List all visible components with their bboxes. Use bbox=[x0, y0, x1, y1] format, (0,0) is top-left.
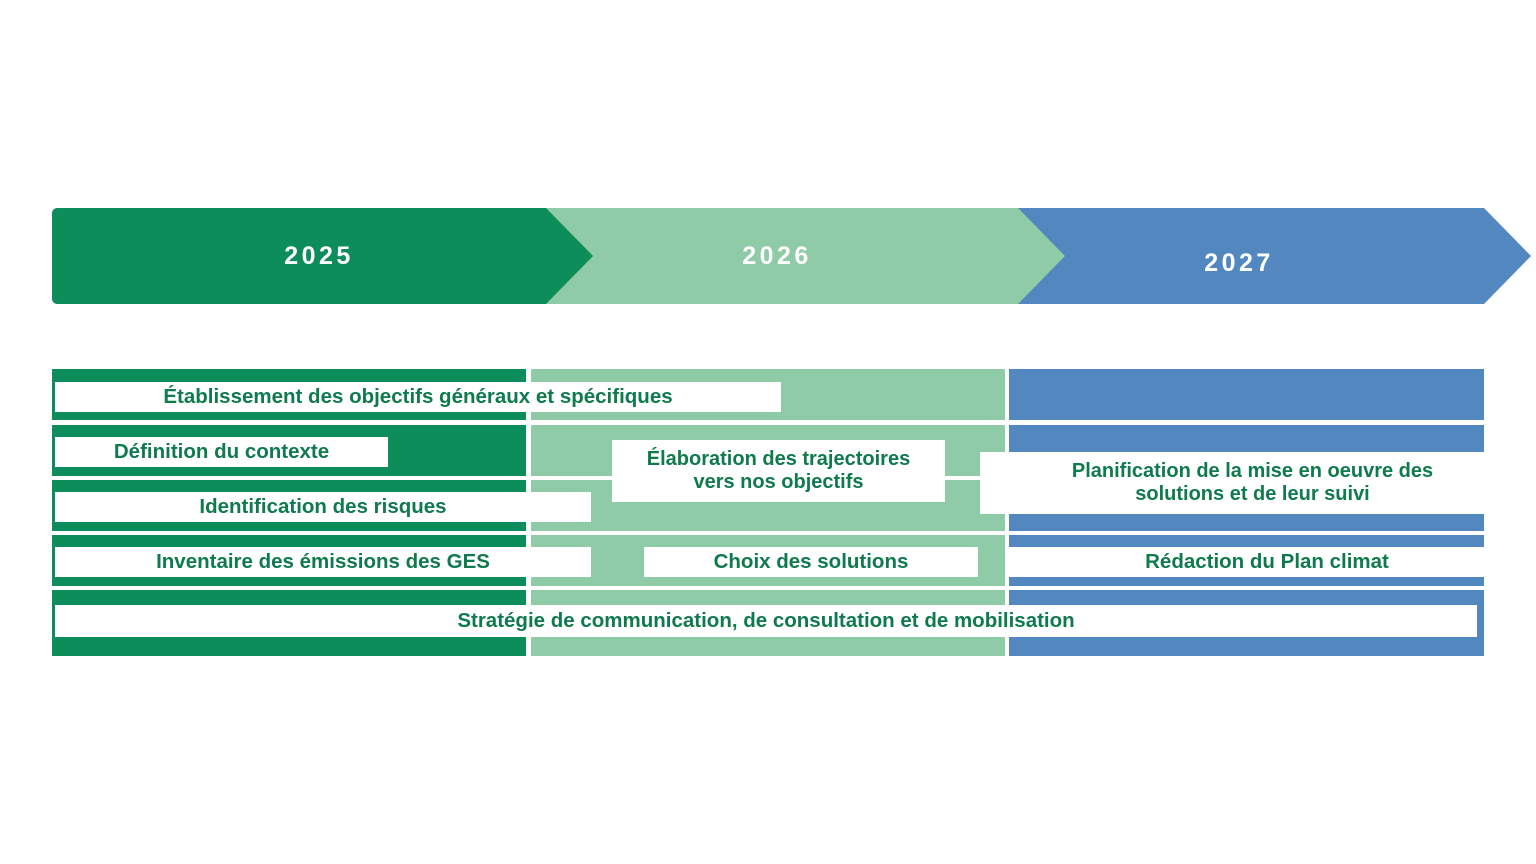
task-label-trajectoires-line2: vers nos objectifs bbox=[647, 471, 910, 494]
arrow-tip-icon bbox=[546, 208, 593, 304]
task-label-contexte[interactable]: Définition du contexte bbox=[55, 437, 388, 467]
task-label-contexte-text: Définition du contexte bbox=[114, 440, 329, 464]
task-label-redaction-text: Rédaction du Plan climat bbox=[1145, 550, 1389, 574]
task-label-choix[interactable]: Choix des solutions bbox=[644, 547, 978, 577]
task-label-inventaire-text: Inventaire des émissions des GES bbox=[156, 550, 490, 574]
task-label-objectifs-text: Établissement des objectifs généraux et … bbox=[163, 385, 672, 409]
bar-segment-2027-row1 bbox=[1009, 369, 1484, 420]
task-label-redaction[interactable]: Rédaction du Plan climat bbox=[1009, 547, 1525, 577]
year-label-2027: 2027 bbox=[1204, 249, 1274, 278]
arrow-tip-icon bbox=[1484, 208, 1531, 304]
year-label-2025: 2025 bbox=[284, 242, 354, 271]
year-arrow-2025[interactable]: 2025 bbox=[52, 208, 546, 304]
task-label-strategie-text: Stratégie de communication, de consultat… bbox=[457, 609, 1074, 633]
gantt-grid: Établissement des objectifs généraux et … bbox=[52, 369, 1484, 659]
task-label-risques-text: Identification des risques bbox=[199, 495, 446, 519]
task-label-planification-line1: Planification de la mise en oeuvre des bbox=[1072, 460, 1433, 483]
task-label-risques[interactable]: Identification des risques bbox=[55, 492, 591, 522]
task-label-strategie[interactable]: Stratégie de communication, de consultat… bbox=[55, 605, 1477, 637]
task-label-planification[interactable]: Planification de la mise en oeuvre des s… bbox=[980, 452, 1525, 514]
year-label-2026: 2026 bbox=[742, 242, 812, 271]
arrow-tip-icon bbox=[1018, 208, 1065, 304]
task-label-planification-line2: solutions et de leur suivi bbox=[1072, 483, 1433, 506]
year-arrow-band: 2027 2026 2025 bbox=[52, 208, 1484, 304]
task-label-trajectoires-line1: Élaboration des trajectoires bbox=[647, 448, 910, 471]
task-label-choix-text: Choix des solutions bbox=[714, 550, 909, 574]
task-label-objectifs[interactable]: Établissement des objectifs généraux et … bbox=[55, 382, 781, 412]
task-label-inventaire[interactable]: Inventaire des émissions des GES bbox=[55, 547, 591, 577]
timeline-diagram: 2027 2026 2025 bbox=[0, 0, 1536, 864]
task-label-trajectoires[interactable]: Élaboration des trajectoires vers nos ob… bbox=[612, 440, 945, 502]
